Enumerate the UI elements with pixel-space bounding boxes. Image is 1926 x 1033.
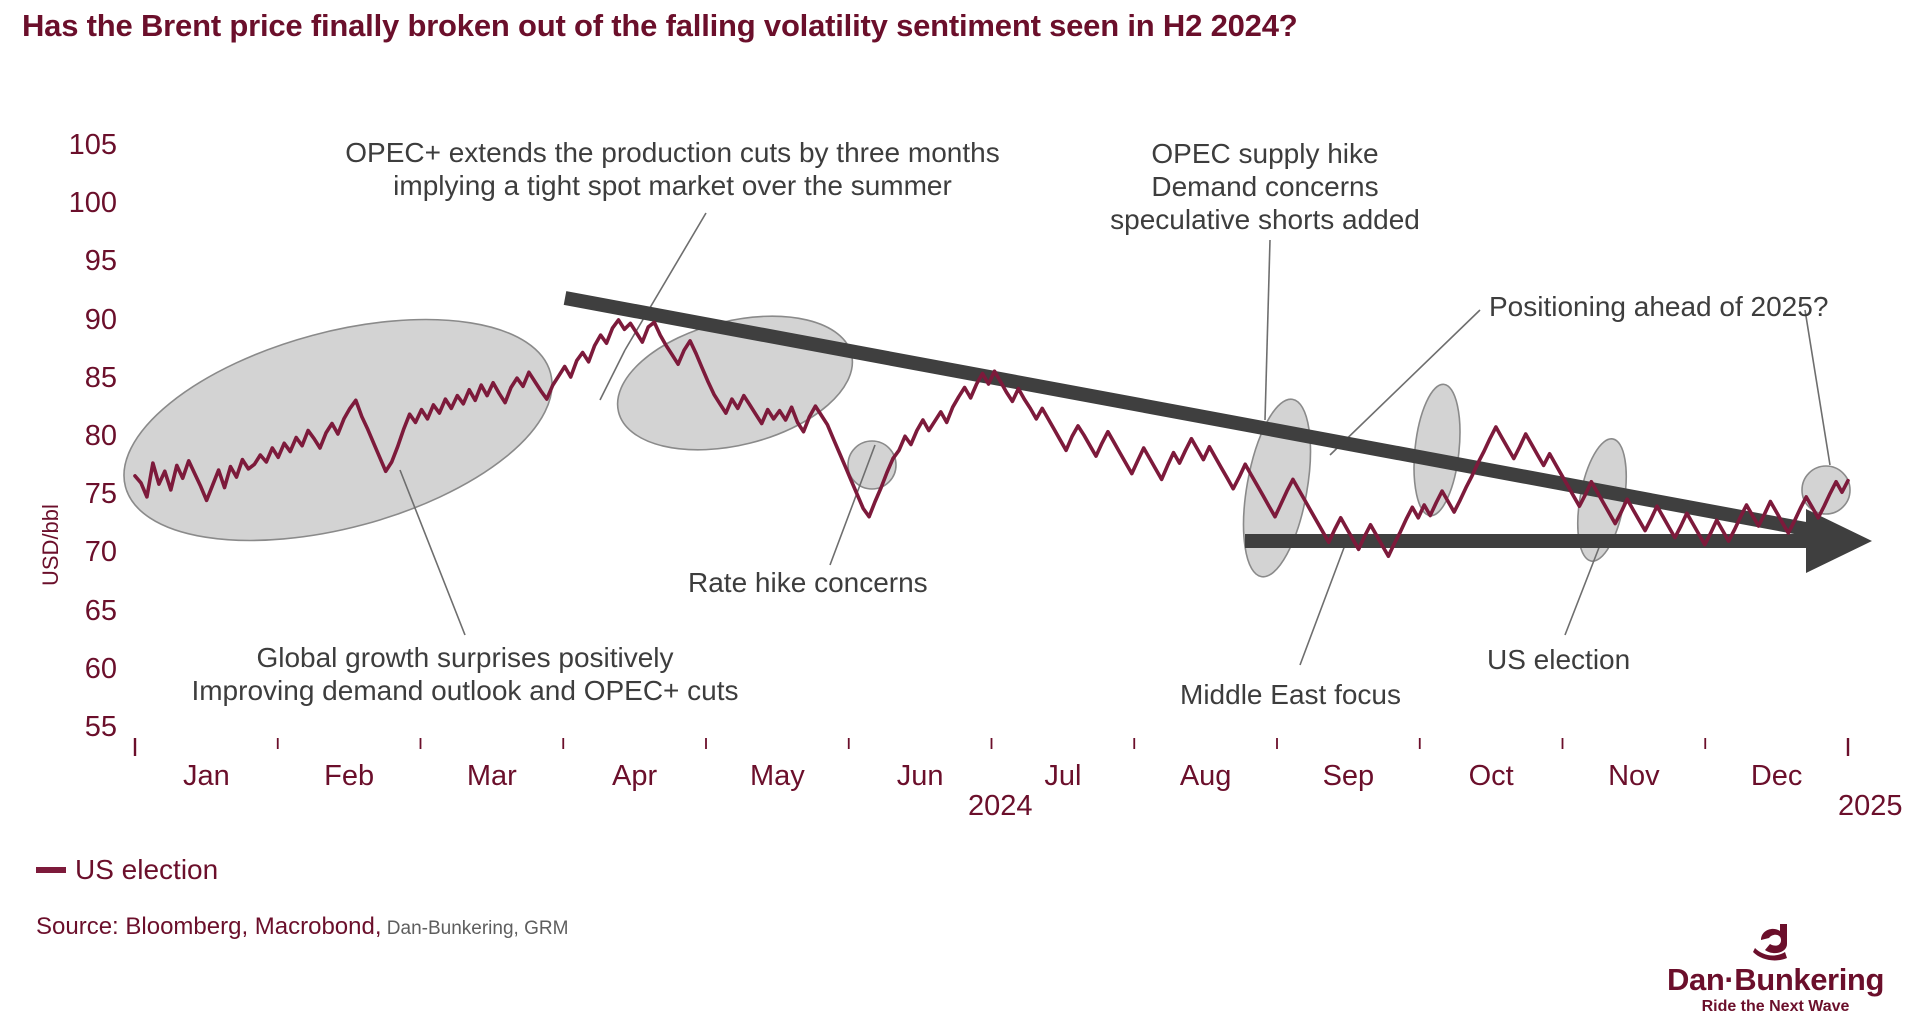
leader-opec-supply-hike bbox=[1265, 240, 1270, 420]
y-tick-100: 100 bbox=[55, 187, 117, 220]
x-tick-feb: Feb bbox=[279, 760, 419, 793]
legend: US election bbox=[36, 854, 218, 886]
annotation-opec-supply-hike: OPEC supply hike Demand concerns specula… bbox=[1065, 137, 1465, 236]
axis-ticks bbox=[135, 738, 1848, 756]
logo-name: Dan·Bunkering bbox=[1667, 964, 1884, 995]
y-tick-65: 65 bbox=[55, 595, 117, 628]
y-tick-75: 75 bbox=[55, 478, 117, 511]
logo-tagline: Ride the Next Wave bbox=[1667, 999, 1884, 1015]
annotation-line: implying a tight spot market over the su… bbox=[305, 169, 1040, 202]
leader-positioning bbox=[1805, 310, 1830, 465]
annotation-line: Improving demand outlook and OPEC+ cuts bbox=[120, 674, 810, 707]
annotation-line: Global growth surprises positively bbox=[120, 641, 810, 674]
leader-middle-east bbox=[1300, 545, 1345, 665]
x-tick-oct: Oct bbox=[1421, 760, 1561, 793]
y-tick-60: 60 bbox=[55, 653, 117, 686]
annotation-line: OPEC supply hike bbox=[1065, 137, 1465, 170]
annotation-us-election: US election bbox=[1487, 643, 1630, 676]
annotation-middle-east: Middle East focus bbox=[1180, 678, 1401, 711]
x-tick-nov: Nov bbox=[1564, 760, 1704, 793]
annotation-line: Demand concerns bbox=[1065, 170, 1465, 203]
x-tick-mar: Mar bbox=[422, 760, 562, 793]
annotation-global-growth: Global growth surprises positively Impro… bbox=[120, 641, 810, 707]
annotation-line: speculative shorts added bbox=[1065, 203, 1465, 236]
x-axis-year-2025: 2025 bbox=[1838, 790, 1903, 823]
x-tick-sep: Sep bbox=[1278, 760, 1418, 793]
legend-line-swatch bbox=[36, 867, 66, 873]
x-axis-year-2024: 2024 bbox=[968, 790, 1033, 823]
trend-arrow-head bbox=[1806, 509, 1872, 573]
x-tick-dec: Dec bbox=[1707, 760, 1847, 793]
x-tick-jul: Jul bbox=[993, 760, 1133, 793]
y-tick-85: 85 bbox=[55, 362, 117, 395]
dan-bunkering-logo: Dan·Bunkering Ride the Next Wave bbox=[1667, 922, 1884, 1015]
x-tick-aug: Aug bbox=[1136, 760, 1276, 793]
y-tick-90: 90 bbox=[55, 304, 117, 337]
y-tick-55: 55 bbox=[55, 711, 117, 744]
leader-us-election bbox=[1565, 545, 1600, 635]
annotation-rate-hike: Rate hike concerns bbox=[688, 566, 928, 599]
annotation-positioning-2025: Positioning ahead of 2025? bbox=[1489, 290, 1828, 323]
x-tick-apr: Apr bbox=[565, 760, 705, 793]
x-tick-jun: Jun bbox=[850, 760, 990, 793]
annotation-line: OPEC+ extends the production cuts by thr… bbox=[305, 136, 1040, 169]
wave-logo-icon bbox=[1753, 922, 1799, 962]
source-note: Source: Bloomberg, Macrobond, Dan-Bunker… bbox=[36, 913, 568, 941]
x-tick-jan: Jan bbox=[136, 760, 276, 793]
legend-label: US election bbox=[75, 854, 218, 886]
source-main: Source: Bloomberg, Macrobond, bbox=[36, 913, 382, 940]
y-tick-105: 105 bbox=[55, 129, 117, 162]
y-tick-80: 80 bbox=[55, 420, 117, 453]
y-tick-95: 95 bbox=[55, 245, 117, 278]
source-sub: Dan-Bunkering, GRM bbox=[382, 918, 569, 939]
annotation-opec-extends: OPEC+ extends the production cuts by thr… bbox=[305, 136, 1040, 202]
leader-opec-extends bbox=[625, 213, 706, 350]
x-tick-may: May bbox=[707, 760, 847, 793]
y-tick-70: 70 bbox=[55, 536, 117, 569]
